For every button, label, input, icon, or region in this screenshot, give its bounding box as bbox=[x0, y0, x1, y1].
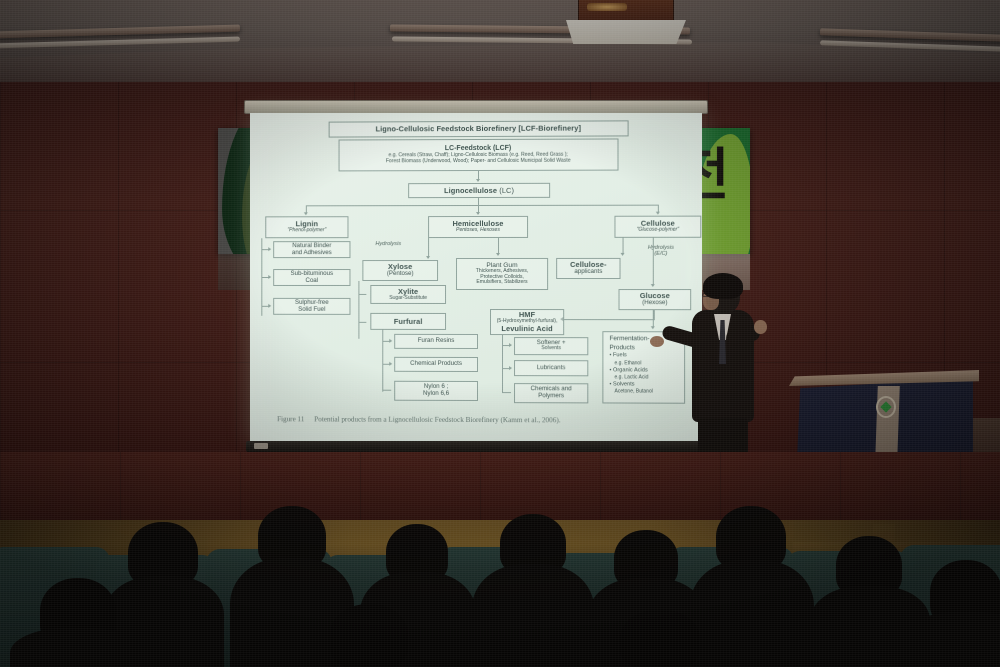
hemicellulose-box: Hemicellulose Pentoses, Hexoses bbox=[428, 216, 528, 238]
slide-title-box: Ligno-Cellulosic Feedstock Biorefinery [… bbox=[329, 120, 629, 137]
arrow-right bbox=[268, 247, 271, 251]
presentation-slide: Ligno-Cellulosic Feedstock Biorefinery [… bbox=[251, 113, 702, 443]
cellulose-sub: "Glucose-polymer" bbox=[637, 228, 680, 234]
connector bbox=[382, 330, 383, 392]
lignocellulose-box: Lignocellulose (LC) bbox=[408, 183, 550, 198]
arrow-right bbox=[268, 303, 271, 307]
connector bbox=[654, 310, 655, 319]
glucose-sub: (Hexose) bbox=[642, 300, 667, 307]
lc-feedstock-line2: Forest Biomass (Underwood, Wood); Paper-… bbox=[386, 158, 571, 164]
arrow-down bbox=[426, 256, 430, 259]
plant-gum-box: Plant Gum Thickeners, Adhesives, Protect… bbox=[456, 258, 548, 290]
fermentation-bullet-3-sub: Acetone, Butanol bbox=[609, 389, 682, 396]
lignin-product-box: Sulphur-free Solid Fuel bbox=[273, 298, 350, 315]
connector bbox=[564, 319, 655, 320]
connector bbox=[478, 198, 479, 205]
audience-shoulders bbox=[690, 560, 814, 667]
connector bbox=[382, 390, 391, 391]
figure-caption-text: Potential products from a Lignocellulosi… bbox=[314, 415, 560, 424]
hmf-product-line2: Solvents bbox=[541, 347, 561, 353]
lignin-product-line2: Solid Fuel bbox=[298, 306, 325, 313]
connector bbox=[358, 294, 366, 295]
xylose-box: Xylose (Pentose) bbox=[362, 260, 438, 281]
connector bbox=[653, 238, 654, 286]
audience-head bbox=[620, 610, 700, 667]
arrow-down bbox=[476, 212, 480, 215]
arrow-down bbox=[650, 326, 654, 329]
lignin-box: Lignin "Phenol-polymer" bbox=[265, 216, 348, 238]
arrow-right bbox=[389, 361, 392, 365]
connector bbox=[502, 392, 511, 393]
figure-number: Figure 11 bbox=[277, 415, 304, 423]
plant-gum-line3: Emulsifiers, Stabilizers bbox=[476, 280, 527, 286]
hemicellulose-sub: Pentoses, Hexoses bbox=[456, 228, 500, 234]
arrow-down bbox=[620, 253, 624, 256]
connector bbox=[502, 335, 503, 393]
fermentation-head2: Products bbox=[609, 344, 682, 353]
lignin-product-box: Sub-bituminous Coal bbox=[273, 269, 350, 286]
arrow-down bbox=[476, 179, 480, 182]
arrow-down bbox=[655, 212, 659, 215]
hmf-title2: Levulinic Acid bbox=[501, 325, 552, 333]
connector-bus bbox=[306, 205, 658, 207]
hydrolysis-ec-label: Hydrolysis(E/C) bbox=[631, 245, 692, 258]
audience-shoulders bbox=[10, 628, 144, 667]
hmf-product-line1: Lubricants bbox=[537, 365, 566, 372]
fermentation-bullet-1: • Fuels bbox=[609, 353, 682, 361]
audience-head bbox=[330, 604, 408, 667]
furfural-product-box: Chemical Products bbox=[394, 357, 478, 372]
lignin-product-line2: Coal bbox=[305, 278, 318, 285]
audience-shoulders bbox=[472, 564, 594, 667]
projection-screen-housing bbox=[244, 100, 708, 114]
arrow-right bbox=[509, 366, 512, 370]
furfural-product-box: Furan Resins bbox=[394, 334, 478, 349]
projector-mount-plate bbox=[566, 20, 686, 44]
lignocellulose-label: Lignocellulose (LC) bbox=[444, 186, 514, 194]
lecture-hall-photo: 전 Ligno-Cellulosic Feedstock Biorefinery… bbox=[0, 0, 1000, 667]
connector bbox=[358, 281, 359, 339]
audience bbox=[0, 500, 1000, 667]
xylose-sub: (Pentose) bbox=[387, 271, 414, 278]
furfural-product-line2: Nylon 6,6 bbox=[423, 391, 449, 398]
presenter-left-hand bbox=[650, 336, 664, 347]
connector bbox=[358, 322, 366, 323]
arrow-right bbox=[509, 343, 512, 347]
furfural-box: Furfural bbox=[370, 313, 446, 330]
projection-screen: Ligno-Cellulosic Feedstock Biorefinery [… bbox=[250, 113, 702, 443]
projection-screen-bottom-bar bbox=[246, 441, 706, 452]
fermentation-products-box: Fermentation- Products • Fuels e.g. Etha… bbox=[602, 331, 685, 404]
lignin-sub: "Phenol-polymer" bbox=[287, 228, 326, 234]
cellulose-box: Cellulose "Glucose-polymer" bbox=[614, 216, 701, 238]
arrow-down bbox=[303, 212, 307, 215]
lignin-product-line2: and Adhesives bbox=[292, 250, 332, 257]
audience-shoulders bbox=[906, 612, 1000, 667]
hmf-product-line2: Polymers bbox=[538, 393, 564, 400]
hmf-product-box: Chemicals and Polymers bbox=[514, 383, 588, 403]
furfural-title: Furfural bbox=[394, 317, 423, 325]
arrow-down bbox=[650, 284, 654, 287]
furfural-product-box: Nylon 6 ; Nylon 6,6 bbox=[394, 381, 478, 401]
lc-feedstock-box: LC-Feedstock (LCF) e.g. Cereals (Straw, … bbox=[339, 138, 619, 171]
arrow-right bbox=[268, 275, 271, 279]
connector bbox=[428, 238, 429, 258]
presenter-hair bbox=[703, 273, 743, 299]
arrow-down bbox=[496, 253, 500, 256]
hmf-product-box: Lubricants bbox=[514, 360, 588, 376]
lignin-product-box: Natural Binder and Adhesives bbox=[273, 241, 350, 258]
fermentation-bullet-2: • Organic Acids bbox=[609, 367, 682, 375]
cellulose-applicants-box: Cellulose- applicants bbox=[556, 258, 620, 279]
institution-emblem-icon bbox=[876, 396, 896, 418]
fermentation-list: Fermentation- Products • Fuels e.g. Etha… bbox=[605, 335, 682, 396]
presenter-right-hand bbox=[754, 320, 767, 334]
hmf-product-box: Softener + Solvents bbox=[514, 337, 588, 355]
figure-caption: Figure 11Potential products from a Ligno… bbox=[277, 415, 687, 425]
hmf-box: HMF (5-Hydroxymethyl-furfural), Levulini… bbox=[490, 309, 564, 335]
xylite-sub: Sugar-Substitute bbox=[389, 296, 427, 302]
hydrolysis-label: Hydrolysis bbox=[362, 241, 414, 247]
cellulose-applicants-line2: applicants bbox=[574, 269, 602, 276]
arrow-right bbox=[389, 338, 392, 342]
furfural-product-line1: Chemical Products bbox=[410, 361, 462, 368]
xylite-box: Xylite Sugar-Substitute bbox=[370, 285, 446, 304]
slide-title: Ligno-Cellulosic Feedstock Biorefinery [… bbox=[376, 125, 582, 134]
furfural-product-line1: Furan Resins bbox=[418, 338, 455, 345]
ceiling-projector bbox=[578, 0, 674, 22]
